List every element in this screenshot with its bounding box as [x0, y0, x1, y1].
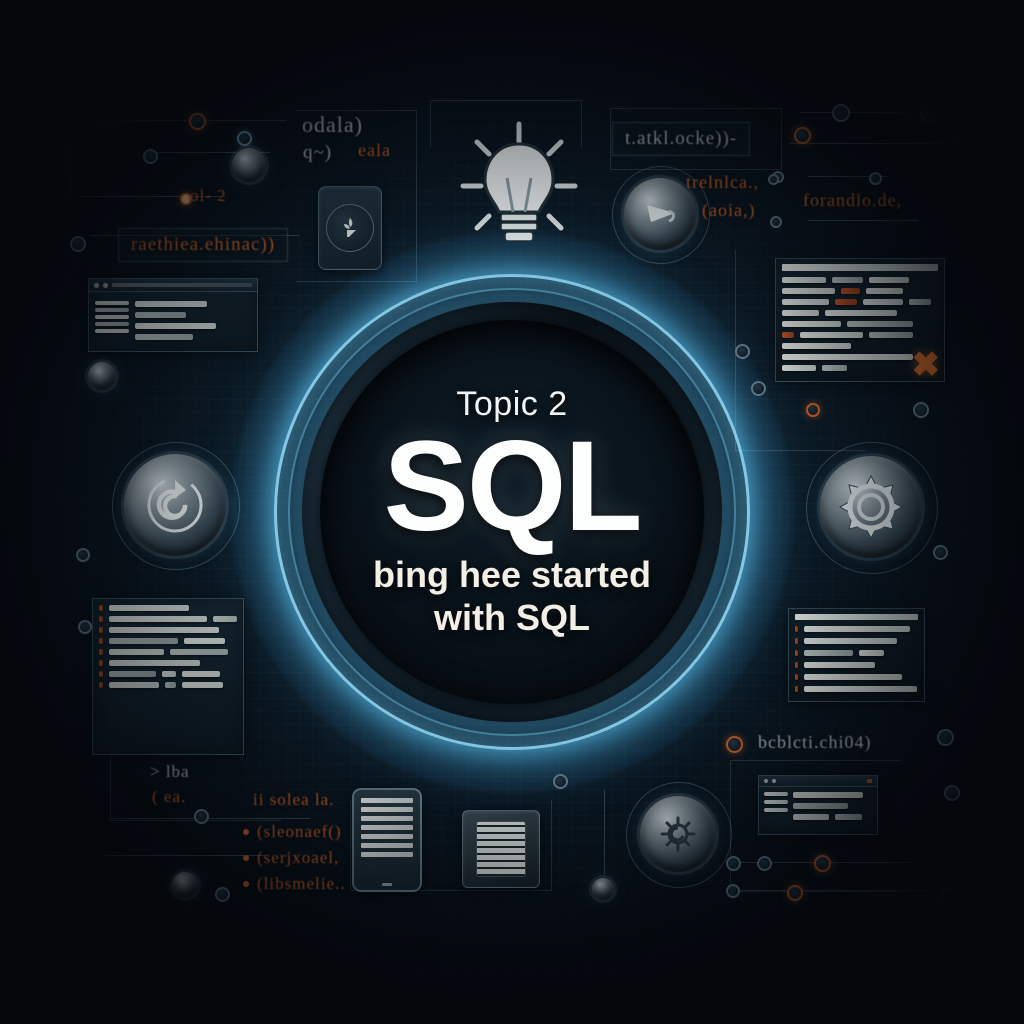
- annotation-right-b: (aoia,): [702, 200, 755, 221]
- wire-tr-1: [800, 112, 910, 113]
- app-window-mockup[interactable]: [88, 278, 258, 352]
- spiral-glyph: [142, 472, 208, 538]
- node-dot[interactable]: [726, 884, 740, 898]
- node-dot[interactable]: [832, 104, 850, 122]
- node-dot[interactable]: [787, 885, 803, 901]
- window-titlebar: [89, 279, 257, 292]
- document-icon[interactable]: [352, 788, 422, 892]
- node-dot[interactable]: [869, 172, 882, 185]
- bullet-label: (serjxoael,: [257, 848, 339, 868]
- wire-br-2: [735, 890, 930, 891]
- node-dot[interactable]: [770, 216, 782, 228]
- database-stripes: [476, 821, 527, 876]
- node-dot[interactable]: [757, 856, 772, 871]
- doc-line: [361, 798, 413, 803]
- node-knob-bottom-left[interactable]: [172, 872, 198, 898]
- annotation-top-center-c: eala: [358, 140, 391, 161]
- wire-bc-vert: [604, 790, 605, 875]
- node-dot[interactable]: [920, 104, 938, 122]
- doc-home-button: [382, 883, 392, 886]
- node-knob-bottom-center[interactable]: [592, 878, 614, 900]
- node-dot[interactable]: [553, 774, 568, 789]
- annotation-bullet-2: (serjxoael,: [243, 848, 339, 868]
- node-dot[interactable]: [70, 236, 86, 252]
- node-dot[interactable]: [913, 402, 929, 418]
- doc-line: [361, 807, 413, 812]
- code-lines: [795, 626, 918, 695]
- annotation-right-c: forandlo.de,: [803, 190, 902, 211]
- node-dot[interactable]: [955, 126, 971, 142]
- node-dot[interactable]: [76, 548, 90, 562]
- window-main: [135, 301, 251, 345]
- lightbulb-icon: [455, 118, 583, 263]
- annotation-lower-left-b: ( ea.: [152, 787, 186, 807]
- node-dot[interactable]: [143, 149, 158, 164]
- node-dot[interactable]: [726, 856, 741, 871]
- window-dot: [772, 779, 776, 783]
- code-lines: [99, 605, 237, 748]
- window-dot: [103, 283, 108, 288]
- wire-bl-1: [110, 818, 310, 819]
- window-titlebar: [759, 776, 877, 787]
- doc-line: [361, 816, 413, 821]
- node-dot[interactable]: [814, 855, 831, 872]
- annotation-bullet-3: (libsmelie..: [243, 874, 345, 894]
- database-icon[interactable]: [462, 810, 540, 888]
- spiral-refresh-icon[interactable]: [124, 454, 226, 556]
- panel-header-bar: [795, 614, 918, 620]
- window-dot: [764, 779, 768, 783]
- window-dot: [94, 283, 99, 288]
- bullet-dot: [243, 829, 249, 835]
- play-glyph: [637, 191, 683, 237]
- tagline: bing hee started with SQL: [373, 554, 651, 639]
- node-dot[interactable]: [937, 729, 954, 746]
- doc-line: [361, 843, 413, 848]
- central-emblem: Topic 2 SQL bing hee started with SQL: [232, 232, 792, 792]
- node-dot[interactable]: [735, 344, 750, 359]
- node-dot[interactable]: [944, 785, 960, 801]
- node-dot[interactable]: [806, 403, 820, 417]
- error-x-icon[interactable]: ✖: [912, 345, 941, 385]
- wire-bl-2: [105, 855, 265, 856]
- annotation-bullet-1: (sleonaef(): [243, 822, 342, 842]
- doc-line: [361, 834, 413, 839]
- settings-gear-glyph: [656, 812, 700, 856]
- window-title-placeholder: [112, 283, 252, 287]
- window-sidebar: [764, 792, 788, 829]
- annotation-top-left-small: ol- 2: [190, 186, 227, 206]
- code-panel-right[interactable]: ✖: [775, 258, 945, 382]
- annotation-right-a: trelnlca.,: [686, 172, 759, 193]
- annotation-lower-left-a: > lba: [150, 762, 190, 782]
- node-dot[interactable]: [78, 620, 92, 634]
- window-sidebar: [95, 301, 129, 345]
- window-content: [764, 792, 872, 829]
- page-title: SQL: [383, 426, 640, 549]
- window-content: [95, 301, 251, 345]
- wire-tr-2: [790, 143, 945, 144]
- annotation-lower-right: bcblcti.chi04): [758, 732, 871, 753]
- annotation-top-right-box: t.atkl.ocke))-: [612, 122, 750, 156]
- node-dot[interactable]: [751, 381, 766, 396]
- bullet-label: (sleonaef(): [257, 822, 342, 842]
- window-close-dot[interactable]: [867, 779, 872, 783]
- code-panel-bottom-right[interactable]: [788, 608, 925, 702]
- settings-gear-icon[interactable]: [640, 796, 716, 872]
- node-dot[interactable]: [726, 736, 743, 753]
- gear-icon[interactable]: [820, 456, 922, 558]
- node-dot[interactable]: [215, 887, 230, 902]
- node-dot[interactable]: [933, 545, 948, 560]
- leaf-icon-badge[interactable]: [318, 186, 382, 270]
- annotation-top-left-box: raethiea.ehinac)): [118, 228, 288, 262]
- wire-tr-4: [808, 220, 918, 221]
- node-knob-top-left[interactable]: [232, 148, 266, 182]
- node-dot[interactable]: [189, 113, 206, 130]
- emblem-disc: Topic 2 SQL bing hee started with SQL: [320, 320, 704, 704]
- poster-canvas: Topic 2 SQL bing hee started with SQL: [0, 0, 1024, 1024]
- bullet-label: (libsmelie..: [257, 874, 345, 894]
- node-dot[interactable]: [768, 174, 779, 185]
- node-dot[interactable]: [794, 127, 811, 144]
- window-main: [793, 792, 872, 829]
- doc-line: [361, 825, 413, 830]
- code-panel-bottom-right-2[interactable]: [758, 775, 878, 835]
- doc-line: [361, 852, 413, 857]
- leaf-icon: [337, 215, 363, 241]
- tagline-line-1: bing hee started: [373, 554, 651, 596]
- bullet-dot: [243, 881, 249, 887]
- node-dot[interactable]: [194, 809, 209, 824]
- panel-header-bar: [782, 264, 938, 271]
- annotation-top-center-a: odala): [302, 112, 363, 138]
- node-dot[interactable]: [940, 888, 955, 903]
- annotation-lower-left-c: ii solea la.: [253, 790, 334, 810]
- code-panel-left[interactable]: [92, 598, 244, 755]
- gear-glyph: [836, 472, 906, 542]
- bullet-dot: [243, 855, 249, 861]
- annotation-top-center-b: q~): [303, 142, 332, 164]
- node-knob-left[interactable]: [88, 362, 116, 390]
- node-dot[interactable]: [237, 131, 252, 146]
- tagline-line-2: with SQL: [373, 597, 651, 639]
